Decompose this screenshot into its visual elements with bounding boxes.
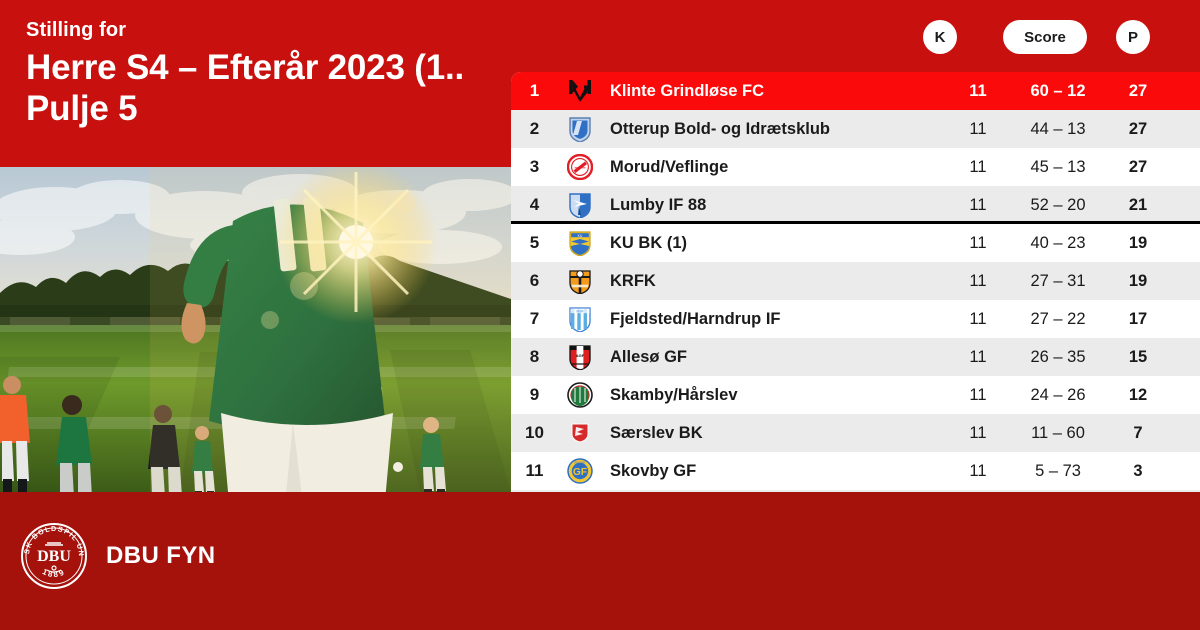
table-row[interactable]: 7FHIFFjeldsted/Harndrup IF1127 – 2217	[511, 300, 1200, 338]
svg-text:1889: 1889	[41, 567, 67, 579]
score-cell: 45 – 13	[1010, 158, 1106, 177]
matches-cell: 11	[946, 272, 1010, 291]
score-cell: 24 – 26	[1010, 386, 1106, 405]
matches-cell: 11	[946, 82, 1010, 101]
table-row[interactable]: 5KUKU BK (1)1140 – 2319	[511, 224, 1200, 262]
standings-table: 1Klinte Grindløse FC1160 – 12272Otterup …	[511, 72, 1200, 528]
points-cell: 17	[1106, 310, 1170, 329]
football-match-photo	[0, 167, 511, 492]
standings-graphic: Stilling for Herre S4 – Efterår 2023 (1.…	[0, 0, 1200, 630]
points-cell: 7	[1106, 424, 1170, 443]
score-cell: 27 – 31	[1010, 272, 1106, 291]
page-title: Herre S4 – Efterår 2023 (1.. Pulje 5	[26, 48, 496, 130]
team-name-cell: KRFK	[602, 272, 946, 291]
klinte-grindlose-fc-logo	[558, 78, 602, 104]
matches-cell: 11	[946, 348, 1010, 367]
footer: DANSK BOLDSPIL UNION1889DBUDBU FYN	[0, 492, 1200, 630]
table-row[interactable]: 9Skamby/Hårslev1124 – 2612	[511, 376, 1200, 414]
otterup-bold-og-idraetsklub-logo	[558, 116, 602, 142]
krfk-logo	[558, 268, 602, 294]
score-cell: 40 – 23	[1010, 234, 1106, 253]
matches-cell: 11	[946, 310, 1010, 329]
rank-cell: 6	[511, 271, 558, 291]
table-row[interactable]: 8AGFAllesø GF1126 – 3515	[511, 338, 1200, 376]
rank-cell: 1	[511, 81, 558, 101]
kicker-label: Stilling for	[26, 18, 496, 42]
matches-cell: 11	[946, 120, 1010, 139]
table-row[interactable]: 10Særslev BK1111 – 607	[511, 414, 1200, 452]
matches-cell: 11	[946, 424, 1010, 443]
morud-veflinge-logo	[558, 154, 602, 180]
svg-text:KU: KU	[578, 234, 583, 238]
lumby-if-88-logo	[558, 192, 602, 218]
points-cell: 15	[1106, 348, 1170, 367]
table-row[interactable]: 3Morud/Veflinge1145 – 1327	[511, 148, 1200, 186]
points-cell: 19	[1106, 272, 1170, 291]
points-cell: 27	[1106, 82, 1170, 101]
score-cell: 60 – 12	[1010, 82, 1106, 101]
matches-cell: 11	[946, 462, 1010, 481]
team-name-cell: Klinte Grindløse FC	[602, 82, 946, 101]
title-block: Stilling for Herre S4 – Efterår 2023 (1.…	[26, 18, 496, 130]
score-cell: 44 – 13	[1010, 120, 1106, 139]
table-row[interactable]: 2Otterup Bold- og Idrætsklub1144 – 1327	[511, 110, 1200, 148]
matches-cell: 11	[946, 234, 1010, 253]
team-name-cell: Lumby IF 88	[602, 196, 946, 215]
svg-text:GF: GF	[573, 467, 587, 478]
table-row[interactable]: 6KRFK1127 – 3119	[511, 262, 1200, 300]
score-cell: 27 – 22	[1010, 310, 1106, 329]
matches-cell: 11	[946, 386, 1010, 405]
rank-cell: 10	[511, 423, 558, 443]
points-cell: 3	[1106, 462, 1170, 481]
team-name-cell: Allesø GF	[602, 348, 946, 367]
table-row[interactable]: 4Lumby IF 881152 – 2021	[511, 186, 1200, 224]
points-cell: 21	[1106, 196, 1170, 215]
column-header-score: Score	[1003, 20, 1087, 54]
team-name-cell: Skovby GF	[602, 462, 946, 481]
points-cell: 19	[1106, 234, 1170, 253]
matches-cell: 11	[946, 158, 1010, 177]
rank-cell: 2	[511, 119, 558, 139]
score-cell: 26 – 35	[1010, 348, 1106, 367]
table-row[interactable]: 1Klinte Grindløse FC1160 – 1227	[511, 72, 1200, 110]
team-name-cell: KU BK (1)	[602, 234, 946, 253]
skamby-harslev-logo	[558, 382, 602, 408]
rank-cell: 11	[511, 461, 558, 481]
points-cell: 27	[1106, 120, 1170, 139]
svg-text:DBU: DBU	[37, 548, 71, 565]
team-name-cell: Fjeldsted/Harndrup IF	[602, 310, 946, 329]
rank-cell: 3	[511, 157, 558, 177]
rank-cell: 4	[511, 195, 558, 215]
team-name-cell: Skamby/Hårslev	[602, 386, 946, 405]
fjeldsted-harndrup-if-logo: FHIF	[558, 306, 602, 332]
ku-bk-logo: KU	[558, 230, 602, 256]
column-header-points: P	[1116, 20, 1150, 54]
table-row[interactable]: 11GFSKOVBYSkovby GF115 – 733	[511, 452, 1200, 490]
svg-text:AGF: AGF	[576, 353, 585, 358]
rank-cell: 5	[511, 233, 558, 253]
skovby-gf-logo: GFSKOVBY	[558, 458, 602, 484]
team-name-cell: Særslev BK	[602, 424, 946, 443]
svg-text:FHIF: FHIF	[576, 309, 583, 313]
score-cell: 5 – 73	[1010, 462, 1106, 481]
points-cell: 12	[1106, 386, 1170, 405]
svg-text:SKOVBY: SKOVBY	[574, 460, 586, 464]
team-name-cell: Morud/Veflinge	[602, 158, 946, 177]
points-cell: 27	[1106, 158, 1170, 177]
alleso-gf-logo: AGF	[558, 344, 602, 370]
footer-organisation-label: DBU FYN	[106, 542, 215, 570]
matches-cell: 11	[946, 196, 1010, 215]
score-cell: 11 – 60	[1010, 424, 1106, 443]
table-header: K Score P	[511, 0, 1200, 72]
dbu-crest-icon: DANSK BOLDSPIL UNION1889DBU	[20, 522, 88, 590]
rank-cell: 7	[511, 309, 558, 329]
score-cell: 52 – 20	[1010, 196, 1106, 215]
rank-cell: 9	[511, 385, 558, 405]
column-header-matches: K	[923, 20, 957, 54]
team-name-cell: Otterup Bold- og Idrætsklub	[602, 120, 946, 139]
saerslev-bk-logo	[558, 423, 602, 443]
rank-cell: 8	[511, 347, 558, 367]
